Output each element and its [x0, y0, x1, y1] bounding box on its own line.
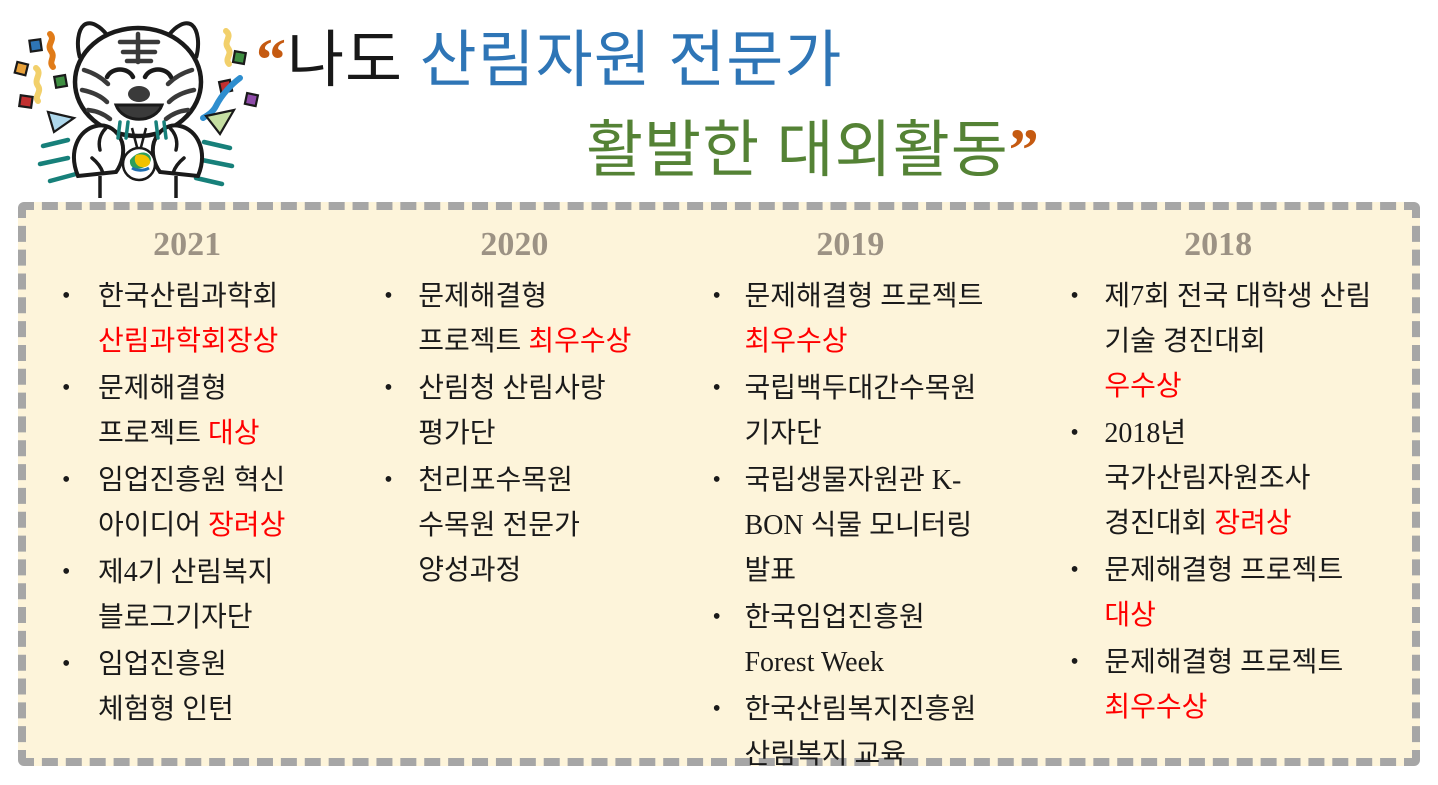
list-item: •국립생물자원관 K-BON 식물 모니터링 발표	[690, 458, 996, 593]
award-list-2020: •문제해결형 프로젝트 최우수상 •산림청 산림사랑 평가단 •천리포수목원 수…	[362, 274, 634, 593]
award-text: 산림청 산림사랑 평가단	[418, 373, 605, 449]
list-item: •한국산림과학회 산림과학회장상	[40, 274, 308, 364]
list-item: •국립백두대간수목원 기자단	[690, 366, 996, 456]
year-heading: 2018	[1048, 226, 1412, 264]
list-item: •문제해결형 프로젝트 대상	[40, 366, 308, 456]
award-text: 한국임업진흥원 Forest Week	[744, 602, 924, 678]
bullet-icon: •	[384, 458, 392, 503]
award-text: 국립백두대간수목원 기자단	[744, 373, 976, 449]
year-column-2018: 2018 •제7회 전국 대학생 산림 기술 경진대회 우수상 •2018년 국…	[1034, 226, 1412, 732]
award-prize: 대상	[1104, 600, 1156, 631]
list-item: •문제해결형 프로젝트 최우수상	[690, 274, 996, 364]
year-columns: 2021 •한국산림과학회 산림과학회장상 •문제해결형 프로젝트 대상 •임업…	[26, 210, 1412, 758]
bullet-icon: •	[1070, 274, 1078, 319]
award-text: 국립생물자원관 K-BON 식물 모니터링 발표	[744, 465, 972, 586]
award-text: 문제해결형 프로젝트	[1104, 647, 1343, 678]
award-list-2021: •한국산림과학회 산림과학회장상 •문제해결형 프로젝트 대상 •임업진흥원 혁…	[40, 274, 308, 732]
list-item: •천리포수목원 수목원 전문가 양성과정	[362, 458, 634, 593]
list-item: •제7회 전국 대학생 산림 기술 경진대회 우수상	[1048, 274, 1378, 409]
title-text-green: 활발한 대외활동	[586, 117, 1009, 185]
bullet-icon: •	[62, 550, 70, 595]
bullet-icon: •	[62, 642, 70, 687]
bullet-icon: •	[62, 366, 70, 411]
title-text-blue: 산림자원 전문가	[420, 27, 843, 95]
award-prize: 최우수상	[1104, 692, 1207, 723]
award-text: 한국산림복지진흥원 산림복지 교육	[744, 694, 976, 770]
award-text: 문제해결형 프로젝트	[744, 281, 983, 312]
year-heading: 2020	[362, 226, 678, 264]
bullet-icon: •	[712, 595, 720, 640]
awards-dashed-panel: 2021 •한국산림과학회 산림과학회장상 •문제해결형 프로젝트 대상 •임업…	[18, 202, 1420, 766]
award-prize: 대상	[208, 418, 260, 449]
award-list-2019: •문제해결형 프로젝트 최우수상 •국립백두대간수목원 기자단 •국립생물자원관…	[690, 274, 996, 777]
bullet-icon: •	[712, 274, 720, 319]
award-list-2018: •제7회 전국 대학생 산림 기술 경진대회 우수상 •2018년 국가산림자원…	[1048, 274, 1378, 730]
list-item: •문제해결형 프로젝트 최우수상	[362, 274, 634, 364]
bullet-icon: •	[384, 366, 392, 411]
list-item: •임업진흥원 혁신 아이디어 장려상	[40, 458, 308, 548]
award-text: 제4기 산림복지 블로그기자단	[98, 557, 274, 633]
title-line-two: 활발한 대외활동”	[586, 120, 1040, 182]
list-item: •산림청 산림사랑 평가단	[362, 366, 634, 456]
bullet-icon: •	[712, 687, 720, 732]
year-heading: 2021	[40, 226, 352, 264]
award-text: 천리포수목원 수목원 전문가 양성과정	[418, 465, 580, 586]
bullet-icon: •	[62, 458, 70, 503]
year-column-2021: 2021 •한국산림과학회 산림과학회장상 •문제해결형 프로젝트 대상 •임업…	[26, 226, 352, 734]
award-prize: 최우수상	[744, 326, 847, 357]
award-prize: 장려상	[1214, 508, 1291, 539]
bullet-icon: •	[384, 274, 392, 319]
year-column-2019: 2019 •문제해결형 프로젝트 최우수상 •국립백두대간수목원 기자단 •국립…	[678, 226, 1034, 779]
bullet-icon: •	[62, 274, 70, 319]
bullet-icon: •	[712, 458, 720, 503]
award-prize: 우수상	[1104, 371, 1181, 402]
open-quote-icon: “	[256, 27, 287, 93]
bullet-icon: •	[1070, 640, 1078, 685]
bullet-icon: •	[1070, 548, 1078, 593]
list-item: •2018년 국가산림자원조사 경진대회 장려상	[1048, 411, 1378, 546]
award-prize: 장려상	[208, 510, 285, 541]
award-text: 제7회 전국 대학생 산림 기술 경진대회	[1104, 281, 1371, 357]
year-column-2020: 2020 •문제해결형 프로젝트 최우수상 •산림청 산림사랑 평가단 •천리포…	[352, 226, 678, 595]
list-item: •한국산림복지진흥원 산림복지 교육	[690, 687, 996, 777]
award-text: 한국산림과학회	[98, 281, 278, 312]
celebrating-white-tiger-mascot-icon	[8, 6, 268, 202]
award-text: 문제해결형 프로젝트	[1104, 555, 1343, 586]
list-item: •임업진흥원 체험형 인턴	[40, 642, 308, 732]
bullet-icon: •	[1070, 411, 1078, 456]
title-line-one: “나도 산림자원 전문가	[256, 30, 842, 92]
title-block: “나도 산림자원 전문가 활발한 대외활동”	[250, 8, 1430, 198]
list-item: •문제해결형 프로젝트 대상	[1048, 548, 1378, 638]
award-prize: 최우수상	[528, 326, 631, 357]
title-text-black: 나도	[287, 27, 403, 95]
award-prize: 산림과학회장상	[98, 326, 278, 357]
list-item: •한국임업진흥원 Forest Week	[690, 595, 996, 685]
list-item: •제4기 산림복지 블로그기자단	[40, 550, 308, 640]
award-text: 임업진흥원 체험형 인턴	[98, 649, 234, 725]
year-heading: 2019	[690, 226, 1034, 264]
close-quote-icon: ”	[1009, 117, 1040, 183]
bullet-icon: •	[712, 366, 720, 411]
list-item: •문제해결형 프로젝트 최우수상	[1048, 640, 1378, 730]
page-header: “나도 산림자원 전문가 활발한 대외활동”	[0, 0, 1438, 200]
